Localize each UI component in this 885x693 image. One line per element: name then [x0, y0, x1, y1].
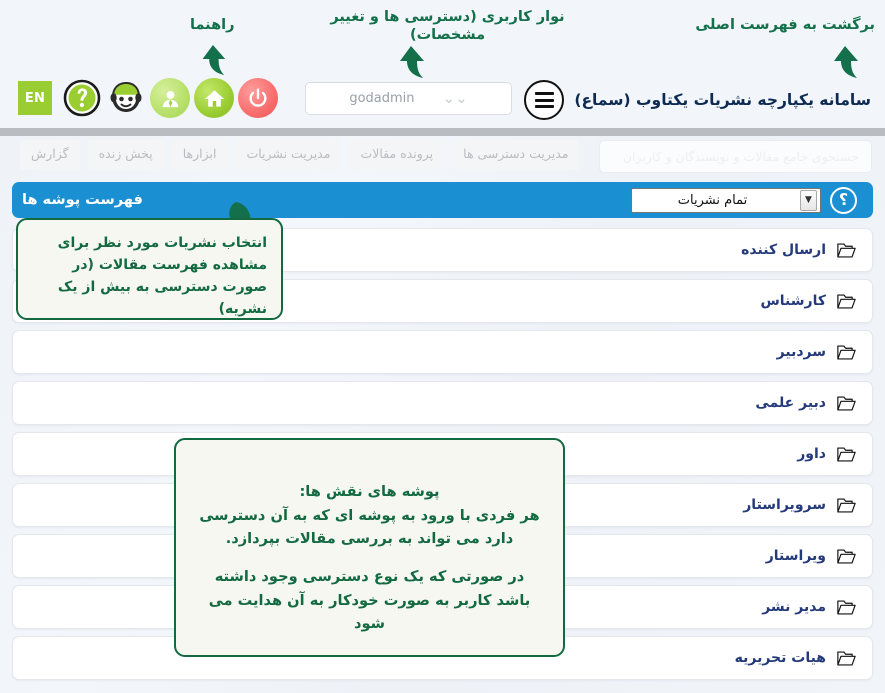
annotation-back-to-main-menu: برگشت به فهرست اصلی [695, 17, 875, 33]
annotation-arrow-up-help-icon [196, 42, 228, 78]
tab-reports[interactable]: گزارش [20, 140, 80, 170]
tab-access-management[interactable]: مدیریت دسترسی ها [452, 140, 579, 170]
folder-label: ارسال کننده [741, 242, 826, 258]
navigation-row: گزارش پخش زنده ابزارها مدیریت نشریات پرو… [0, 140, 885, 174]
folder-icon [837, 599, 856, 616]
chevron-down-icon: ⌄⌄ [443, 91, 468, 106]
app-header: برگشت به فهرست اصلی نوار کاربری (دسترسی … [0, 0, 885, 128]
nav-tabs: گزارش پخش زنده ابزارها مدیریت نشریات پرو… [20, 140, 579, 170]
folder-icon [837, 446, 856, 463]
folder-icon [837, 548, 856, 565]
annotation-help: راهنما [190, 17, 234, 33]
brand-area: سامانه یکپارچه نشریات یکتاوب (سماع) [524, 80, 871, 120]
annotation-user-bar: نوار کاربری (دسترسی ها و تغییر مشخصات) [295, 8, 600, 44]
folder-label: مدیر نشر [762, 599, 826, 615]
user-account-selector[interactable]: ⌄⌄ godadmin [305, 82, 512, 115]
chevron-down-icon: ▼ [800, 190, 817, 211]
folders-panel-header: ؟ ▼ تمام نشریات فهرست پوشه ها [12, 182, 873, 218]
callout-role-folders: پوشه های نقش ها: هر فردی با ورود به پوشه… [174, 438, 565, 657]
folder-label: سردبیر [777, 344, 826, 360]
folder-icon [837, 650, 856, 667]
user-icon[interactable] [150, 78, 190, 118]
home-icon[interactable] [194, 78, 234, 118]
tab-article-files[interactable]: پرونده مقالات [349, 140, 444, 170]
header-divider [0, 128, 885, 136]
hamburger-menu-icon[interactable] [524, 80, 564, 120]
folder-icon [837, 497, 856, 514]
help-question-badge-icon[interactable]: ؟ [830, 187, 857, 214]
power-icon[interactable] [238, 78, 278, 118]
user-name-label: godadmin [349, 91, 414, 106]
annotation-arrow-up-userbar-icon [393, 44, 427, 80]
folder-label: کارشناس [760, 293, 826, 309]
search-input[interactable]: جستجوی جامع مقالات و نویسندگان و کاربران [599, 140, 872, 173]
tab-live-stream[interactable]: پخش زنده [88, 140, 164, 170]
folder-icon [837, 293, 856, 310]
folder-icon [837, 395, 856, 412]
folder-icon [837, 242, 856, 259]
callout-roles-title: پوشه های نقش ها: [198, 480, 541, 504]
folder-label: داور [797, 446, 826, 462]
panel-left-controls: ؟ ▼ تمام نشریات [631, 187, 857, 214]
folder-label: ویراستار [766, 548, 826, 564]
journal-select-dropdown[interactable]: ▼ تمام نشریات [631, 188, 821, 213]
panel-title: فهرست پوشه ها [22, 192, 143, 208]
folder-label: هیات تحریریه [735, 650, 826, 666]
journal-select-value: تمام نشریات [632, 193, 799, 208]
folder-icon [837, 344, 856, 361]
folder-row-scientific-secretary[interactable]: دبیر علمی [12, 381, 873, 425]
annotation-arrow-up-menu-icon [827, 44, 861, 80]
folder-label: دبیر علمی [755, 395, 826, 411]
help-question-icon[interactable] [62, 78, 102, 118]
callout-roles-line2: در صورتی که یک نوع دسترسی وجود داشته باش… [198, 565, 541, 636]
folder-row-editor-in-chief[interactable]: سردبیر [12, 330, 873, 374]
search-placeholder-label: جستجوی جامع مقالات و نویسندگان و کاربران [623, 149, 859, 164]
language-toggle-button[interactable]: EN [18, 81, 52, 115]
tab-tools[interactable]: ابزارها [172, 140, 228, 170]
callout-roles-line1: هر فردی با ورود به پوشه ای که به آن دستر… [198, 504, 541, 551]
support-face-icon[interactable] [106, 78, 146, 118]
folder-label: سرویراستار [743, 497, 826, 513]
page-title: سامانه یکپارچه نشریات یکتاوب (سماع) [574, 91, 871, 109]
callout-journal-text: انتخاب نشریات مورد نظر برای مشاهده فهرست… [58, 235, 267, 317]
tab-journal-management[interactable]: مدیریت نشریات [235, 140, 341, 170]
toolbar-icon-cluster: EN [18, 78, 278, 118]
callout-journal-select: انتخاب نشریات مورد نظر برای مشاهده فهرست… [16, 218, 283, 320]
